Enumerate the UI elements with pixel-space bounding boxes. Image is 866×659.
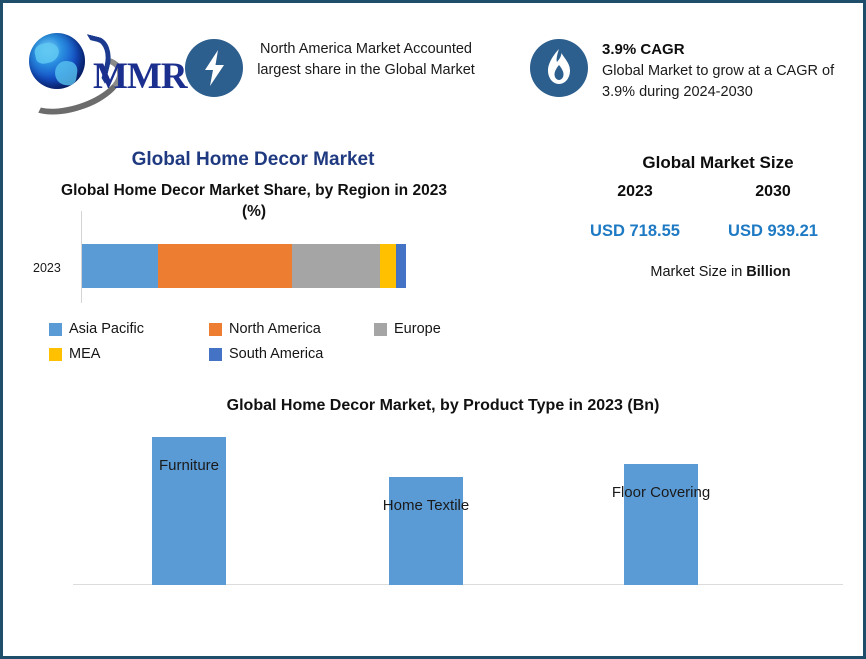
legend-swatch-north-america (209, 323, 222, 336)
bar-group-furniture: Furniture (109, 437, 269, 585)
segment-north-america (158, 244, 292, 288)
feature-cagr-title: 3.9% CAGR (602, 39, 847, 61)
legend-swatch-south-america (209, 348, 222, 361)
legend-label-south-america: South America (229, 346, 323, 362)
segment-europe (292, 244, 380, 288)
segment-asia-pacific (82, 244, 158, 288)
market-size-year-2023: 2023 (590, 183, 680, 201)
market-size-footnote-unit: Billion (746, 264, 790, 280)
feature-north-america-text: North America Market Accounted largest s… (257, 39, 475, 81)
bar-group-floor-covering: Floor Covering (581, 464, 741, 585)
product-type-chart: Furniture Home Textile Floor Covering (63, 423, 853, 633)
legend-item-south-america: South America (209, 346, 323, 362)
bar-label-floor-covering: Floor Covering (581, 484, 741, 501)
feature-north-america: North America Market Accounted largest s… (185, 39, 485, 97)
feature-cagr: 3.9% CAGR Global Market to grow at a CAG… (530, 39, 860, 103)
legend-label-mea: MEA (69, 346, 100, 362)
segment-mea (380, 244, 396, 288)
market-size-footnote-prefix: Market Size in (650, 264, 746, 280)
market-size-footnote: Market Size in Billion (598, 264, 843, 280)
market-size-title: Global Market Size (603, 153, 833, 173)
stacked-bar (82, 244, 406, 288)
lightning-bolt-icon (185, 39, 243, 97)
infographic-canvas: MMR North America Market Accounted large… (0, 0, 866, 659)
legend-label-asia-pacific: Asia Pacific (69, 321, 144, 337)
category-label-2023: 2023 (33, 261, 61, 275)
legend-swatch-europe (374, 323, 387, 336)
feature-cagr-description: Global Market to grow at a CAGR of 3.9% … (602, 63, 834, 100)
mmr-logo: MMR (21, 29, 181, 103)
header-band: MMR North America Market Accounted large… (3, 3, 863, 125)
legend-label-north-america: North America (229, 321, 321, 337)
region-legend: Asia Pacific North America Europe MEA So… (49, 321, 469, 371)
legend-item-north-america: North America (209, 321, 374, 337)
bar-home-textile (389, 477, 463, 585)
market-size-value-2030: USD 939.21 (708, 222, 838, 241)
legend-label-europe: Europe (394, 321, 441, 337)
page-title: Global Home Decor Market (43, 149, 463, 171)
feature-cagr-text-block: 3.9% CAGR Global Market to grow at a CAG… (602, 39, 847, 103)
product-chart-title: Global Home Decor Market, by Product Typ… (103, 397, 783, 415)
bar-group-home-textile: Home Textile (346, 477, 506, 585)
market-size-value-2023: USD 718.55 (570, 222, 700, 241)
market-size-year-2030: 2030 (728, 183, 818, 201)
segment-south-america (396, 244, 406, 288)
legend-item-europe: Europe (374, 321, 441, 337)
bar-floor-covering (624, 464, 698, 585)
legend-item-asia-pacific: Asia Pacific (49, 321, 209, 337)
legend-item-mea: MEA (49, 346, 209, 362)
bar-label-home-textile: Home Textile (346, 497, 506, 514)
region-share-chart: 2023 (23, 211, 463, 311)
legend-swatch-mea (49, 348, 62, 361)
legend-swatch-asia-pacific (49, 323, 62, 336)
flame-icon (530, 39, 588, 97)
legend-row-1: Asia Pacific North America Europe (49, 321, 469, 337)
bar-label-furniture: Furniture (109, 457, 269, 474)
legend-row-2: MEA South America (49, 346, 469, 362)
logo-wordmark: MMR (93, 55, 187, 98)
